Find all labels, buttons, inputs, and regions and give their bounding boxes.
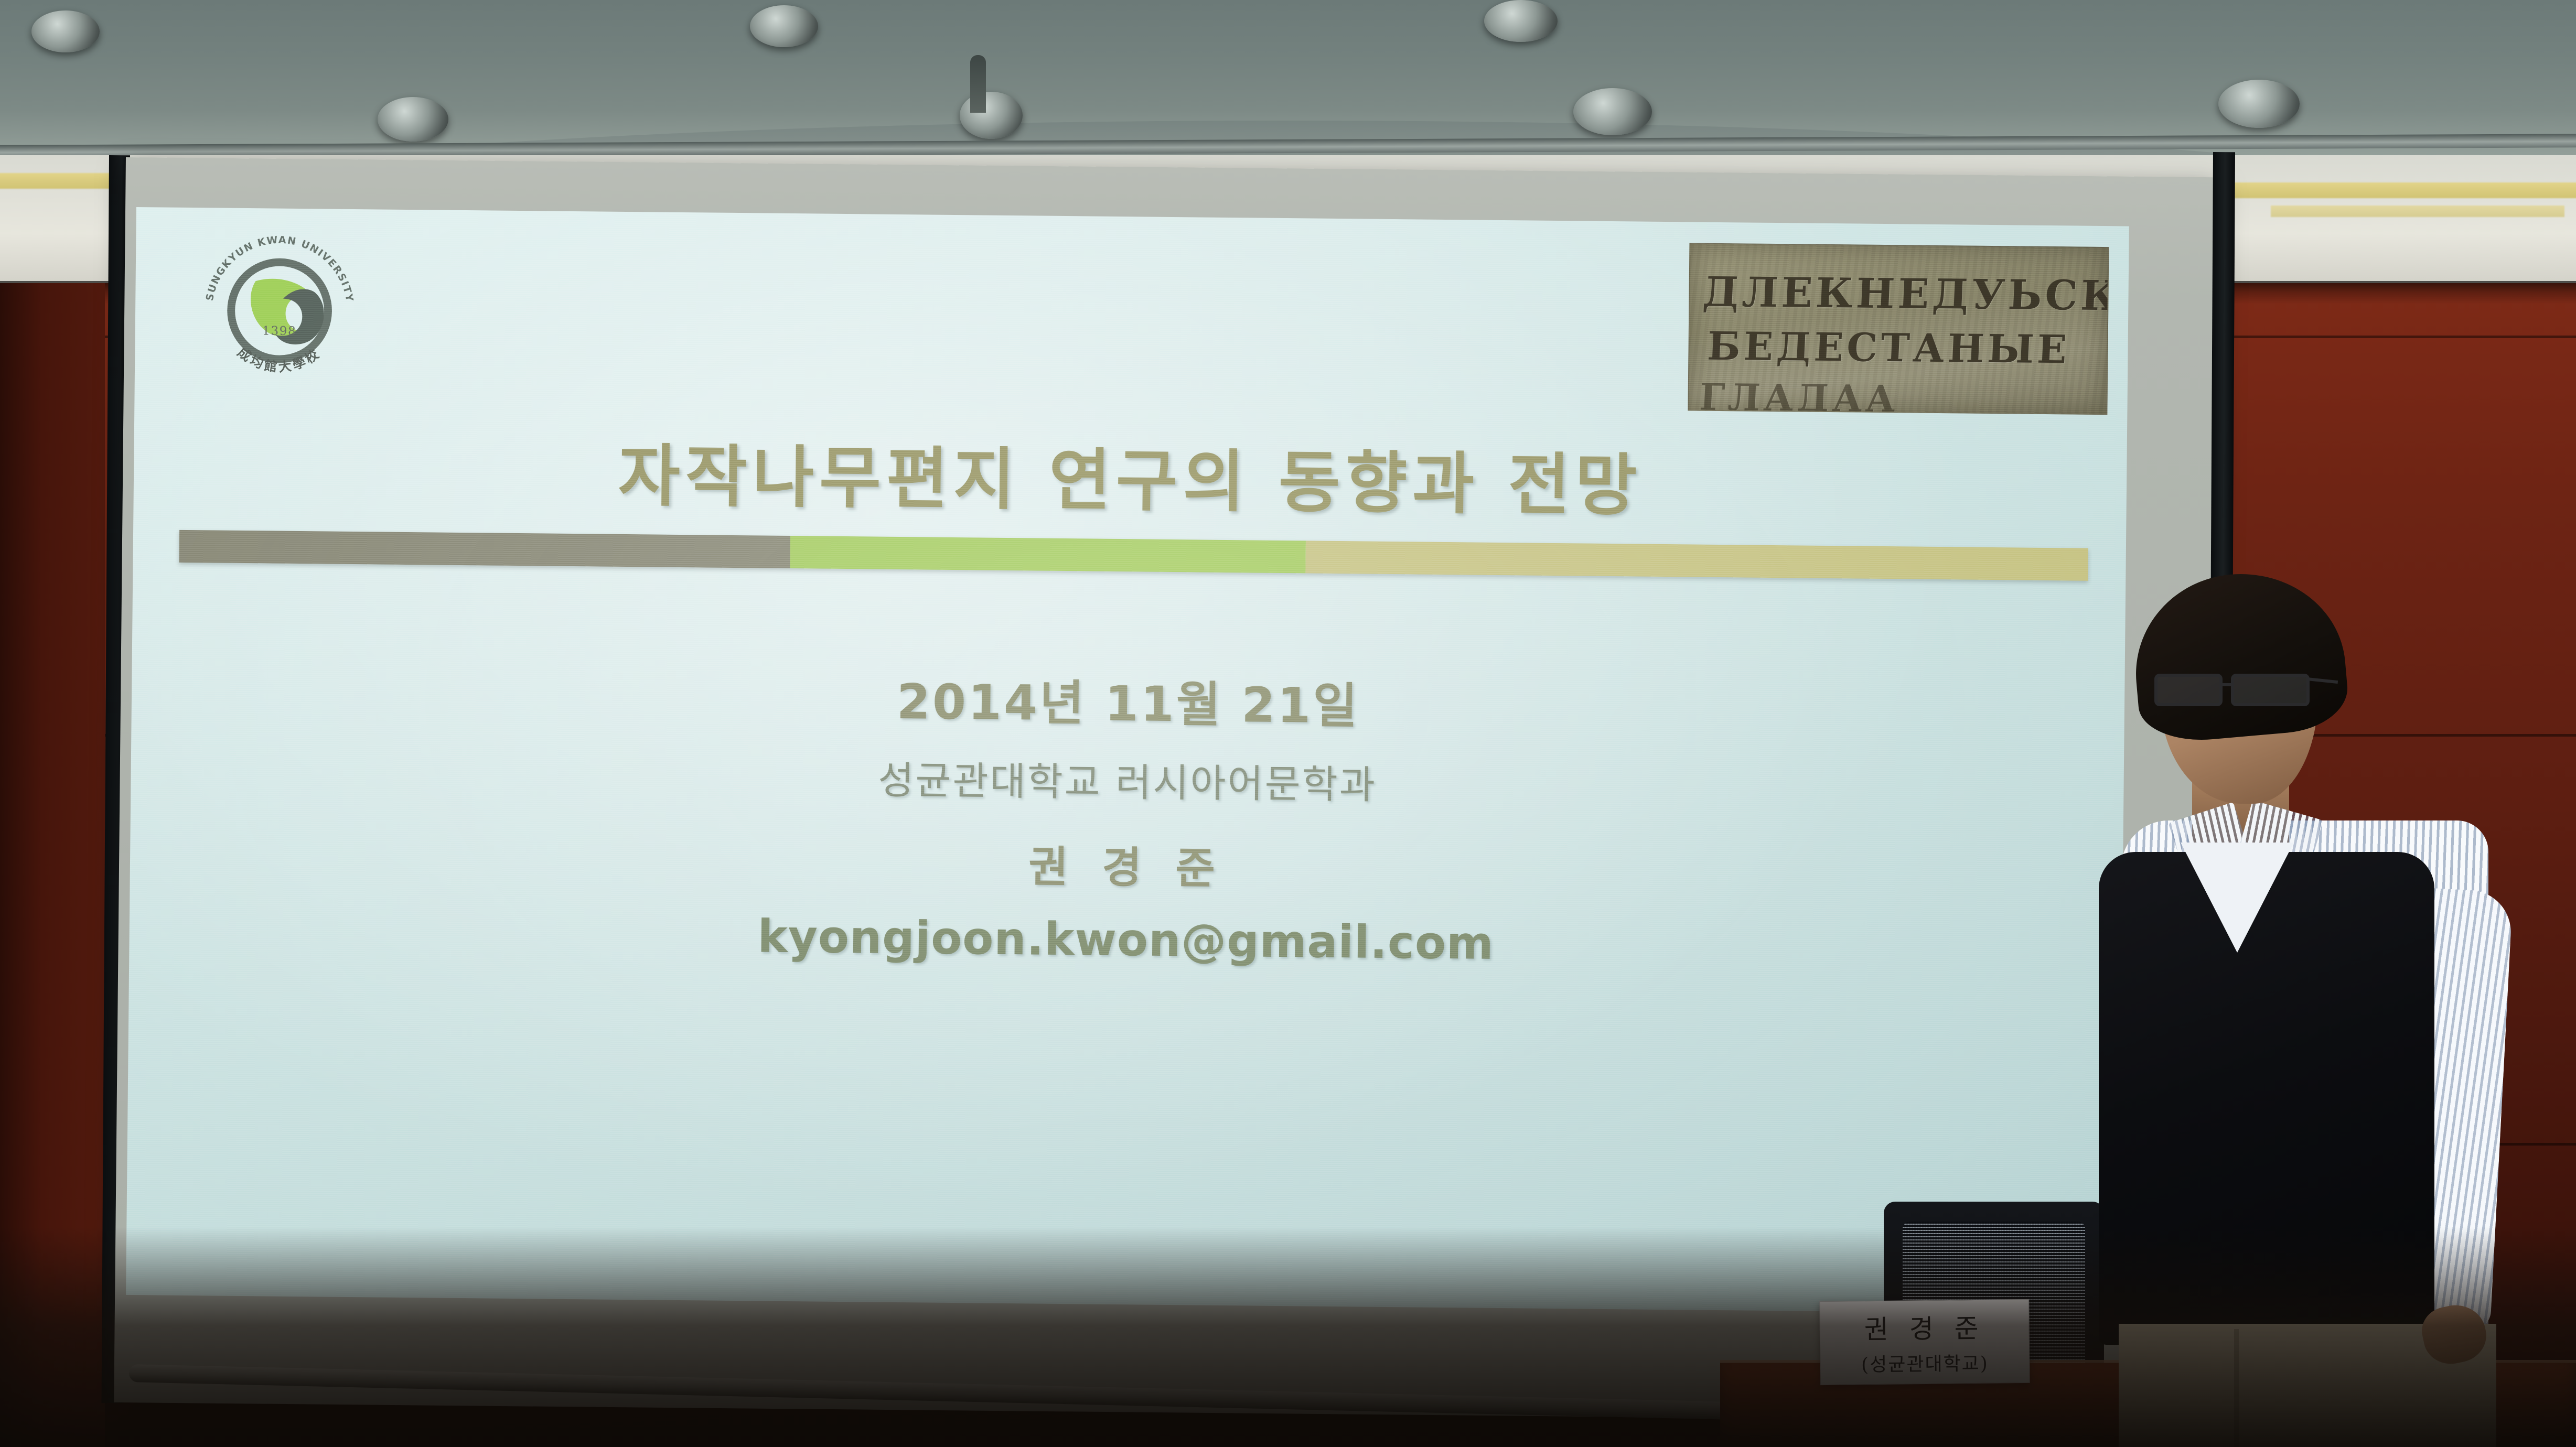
tape-mark-right-2 bbox=[2271, 206, 2564, 217]
eyeglass-lens-right bbox=[2231, 674, 2310, 706]
recessed-light-1 bbox=[31, 10, 100, 52]
vest-v-neck-opening bbox=[2181, 843, 2294, 953]
slide-department: 성균관대학교 러시아어문학과 bbox=[131, 742, 2124, 817]
eyeglasses bbox=[2151, 667, 2330, 710]
recessed-light-6 bbox=[2218, 80, 2300, 128]
svg-text:成均館大學校: 成均館大學校 bbox=[234, 344, 324, 375]
slide-date: 2014년 11월 21일 bbox=[132, 655, 2125, 744]
slide-title: 자작나무편지 연구의 동향과 전망 bbox=[133, 417, 2127, 533]
projected-slide: SUNGKYUN KWAN UNIVERSITY 成均館大學校 1398 ДЛЕ… bbox=[126, 207, 2129, 1314]
slide-presenter: 권 경 준 bbox=[130, 823, 2123, 904]
floor-shadow bbox=[0, 1227, 2576, 1447]
birch-bark-letter-image: ДЛЕКНЕДУЬСКИЕ БЕДЕСТАНЫЕ ГЛАДАА bbox=[1688, 243, 2109, 415]
birch-text-line-2: БЕДЕСТАНЫЕ bbox=[1706, 324, 2071, 373]
sprinkler-head bbox=[960, 92, 1023, 139]
hair bbox=[2128, 565, 2350, 746]
slide-email: kyongjoon.kwon@gmail.com bbox=[129, 904, 2122, 976]
slide-accent-bar bbox=[179, 530, 2088, 581]
eyeglass-lens-left bbox=[2154, 674, 2223, 706]
tape-mark-right bbox=[2234, 182, 2576, 198]
recessed-light-5 bbox=[1573, 88, 1652, 135]
svg-text:1398: 1398 bbox=[262, 325, 297, 339]
accent-segment-olive bbox=[1305, 541, 2088, 580]
presentation-room-photo: SUNGKYUN KWAN UNIVERSITY 成均館大學校 1398 ДЛЕ… bbox=[0, 0, 2576, 1447]
recessed-light-3 bbox=[1484, 0, 1558, 42]
sprinkler-pipe bbox=[970, 55, 986, 113]
birch-text-line-3: ГЛАДАА bbox=[1699, 375, 1899, 415]
recessed-light-4 bbox=[378, 97, 448, 142]
eyeglass-bridge bbox=[2223, 683, 2234, 686]
recessed-light-2 bbox=[750, 5, 818, 47]
birch-text-line-1: ДЛЕКНЕДУЬСКИЕ bbox=[1702, 268, 2109, 321]
accent-segment-green bbox=[790, 536, 1305, 573]
sungkyunkwan-university-logo: SUNGKYUN KWAN UNIVERSITY 成均館大學校 1398 bbox=[192, 223, 367, 398]
accent-segment-gray bbox=[179, 530, 790, 568]
